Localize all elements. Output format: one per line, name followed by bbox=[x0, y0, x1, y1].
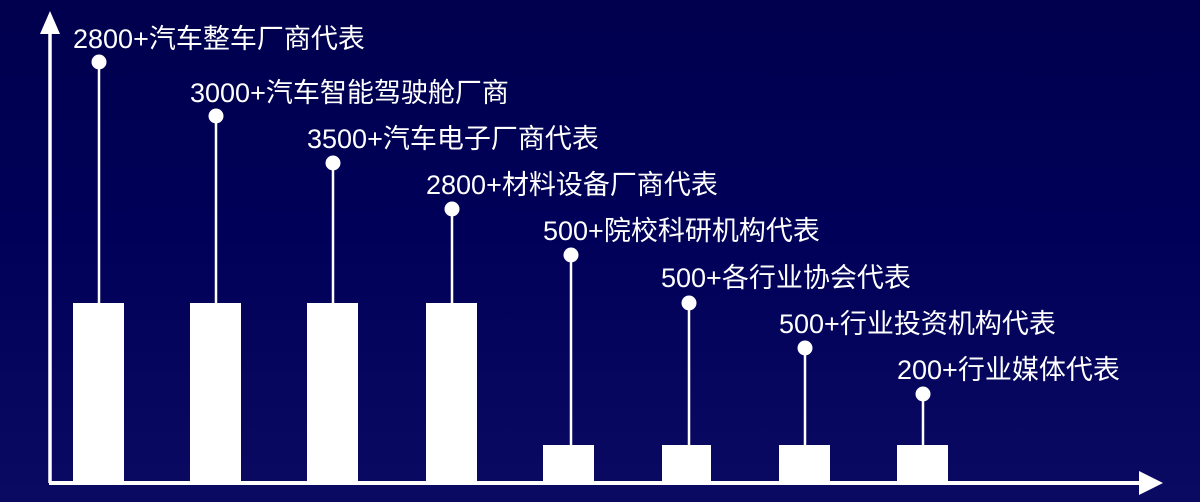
leader-dot-icon[interactable] bbox=[916, 387, 931, 402]
leader-dot-icon[interactable] bbox=[564, 248, 579, 263]
x-axis-right-arrow-icon bbox=[1139, 471, 1163, 495]
bar-chart-graphic bbox=[0, 0, 1200, 502]
leader-dot-icon[interactable] bbox=[682, 296, 697, 311]
data-label: 500+各行业协会代表 bbox=[661, 265, 911, 292]
bar[interactable] bbox=[307, 303, 358, 482]
data-label: 2800+材料设备厂商代表 bbox=[426, 172, 718, 199]
data-label: 3500+汽车电子厂商代表 bbox=[307, 126, 599, 153]
leader-dot-icon[interactable] bbox=[92, 55, 107, 70]
bar[interactable] bbox=[779, 445, 830, 482]
data-label: 500+院校科研机构代表 bbox=[543, 218, 820, 245]
data-label: 3000+汽车智能驾驶舱厂商 bbox=[190, 80, 509, 107]
chart-canvas: 2800+汽车整车厂商代表3000+汽车智能驾驶舱厂商3500+汽车电子厂商代表… bbox=[0, 0, 1200, 502]
leader-dot-icon[interactable] bbox=[326, 156, 341, 171]
bar[interactable] bbox=[190, 303, 241, 482]
leader-dot-icon[interactable] bbox=[798, 341, 813, 356]
bar[interactable] bbox=[543, 445, 594, 482]
bar[interactable] bbox=[897, 445, 948, 482]
data-label: 2800+汽车整车厂商代表 bbox=[73, 26, 365, 53]
leader-dot-icon[interactable] bbox=[209, 109, 224, 124]
bar[interactable] bbox=[426, 303, 477, 482]
bar[interactable] bbox=[662, 445, 711, 482]
y-axis-up-arrow-icon bbox=[40, 11, 60, 34]
data-label: 500+行业投资机构代表 bbox=[779, 311, 1056, 338]
bar[interactable] bbox=[73, 303, 124, 482]
leader-dot-icon[interactable] bbox=[445, 202, 460, 217]
data-label: 200+行业媒体代表 bbox=[897, 357, 1120, 384]
